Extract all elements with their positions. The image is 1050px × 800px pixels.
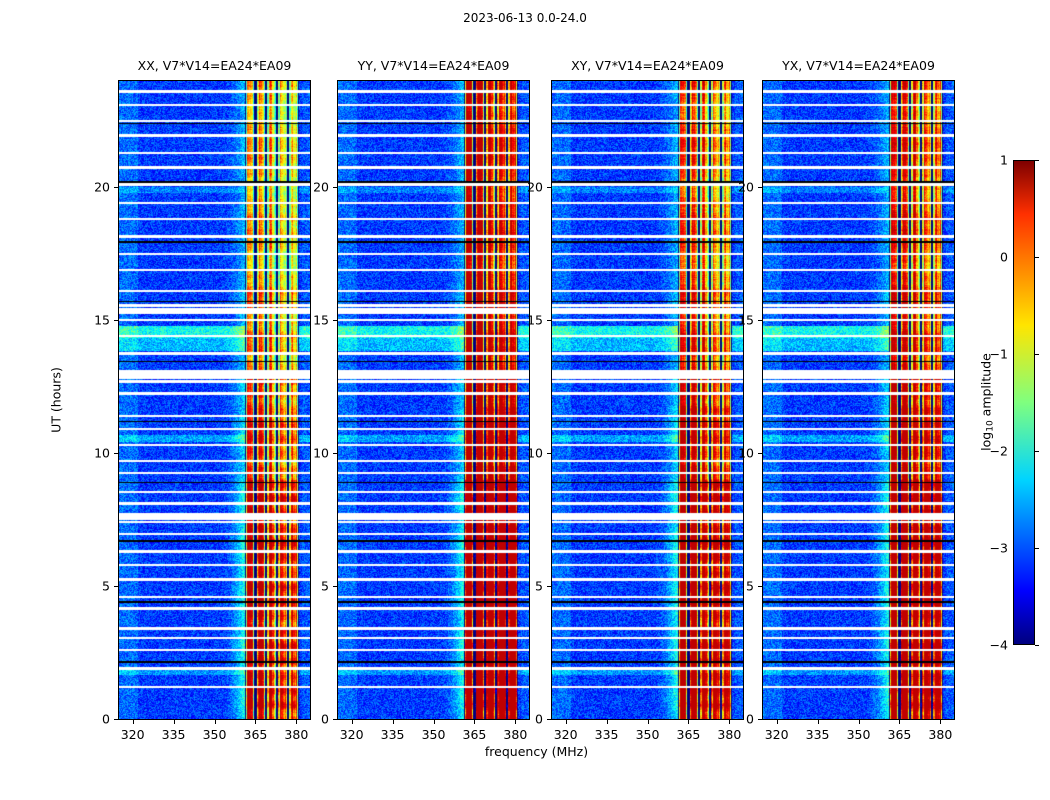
y-tick-mark (333, 187, 337, 188)
y-tick-label: 15 (724, 313, 754, 328)
colorbar-tick-label: 1 (984, 153, 1008, 168)
y-tick-mark (547, 719, 551, 720)
panel-title-yy: YY, V7*V14=EA24*EA09 (358, 58, 510, 73)
y-tick-label: 20 (299, 180, 329, 195)
x-tick-label: 365 (243, 727, 267, 742)
x-tick-label: 320 (554, 727, 578, 742)
panel-title-xy: XY, V7*V14=EA24*EA09 (571, 58, 724, 73)
y-axis-label: UT (hours) (49, 367, 64, 433)
x-tick-mark (434, 720, 435, 724)
x-tick-mark (215, 720, 216, 724)
y-tick-label: 10 (513, 446, 543, 461)
x-tick-label: 350 (847, 727, 871, 742)
x-tick-mark (648, 720, 649, 724)
x-tick-label: 335 (381, 727, 405, 742)
y-tick-mark (547, 187, 551, 188)
spectrum-panel-xx[interactable]: XX, V7*V14=EA24*EA09 (118, 80, 311, 720)
y-tick-mark (114, 187, 118, 188)
spectrum-panel-yx[interactable]: YX, V7*V14=EA24*EA09 (762, 80, 955, 720)
y-tick-mark (333, 586, 337, 587)
y-tick-label: 0 (299, 712, 329, 727)
waterfall-image-yy (338, 81, 529, 719)
y-tick-mark (333, 320, 337, 321)
x-tick-label: 335 (162, 727, 186, 742)
x-tick-label: 320 (765, 727, 789, 742)
y-tick-mark (547, 453, 551, 454)
x-tick-label: 380 (284, 727, 308, 742)
x-tick-label: 350 (422, 727, 446, 742)
colorbar-tick-mark (1035, 645, 1039, 646)
y-tick-label: 10 (724, 446, 754, 461)
x-tick-mark (899, 720, 900, 724)
colorbar-label-suffix: amplitude (979, 353, 994, 420)
x-tick-mark (255, 720, 256, 724)
x-tick-label: 335 (595, 727, 619, 742)
x-tick-label: 365 (462, 727, 486, 742)
figure-canvas: 2023-06-13 0.0-24.0 XX, V7*V14=EA24*EA09… (0, 0, 1050, 800)
y-tick-mark (114, 586, 118, 587)
x-tick-label: 320 (340, 727, 364, 742)
x-tick-mark (818, 720, 819, 724)
y-tick-mark (547, 320, 551, 321)
colorbar-label-prefix: log (979, 432, 994, 451)
x-tick-label: 380 (928, 727, 952, 742)
x-tick-mark (174, 720, 175, 724)
y-tick-mark (114, 453, 118, 454)
y-tick-label: 15 (80, 313, 110, 328)
x-tick-mark (352, 720, 353, 724)
x-tick-label: 365 (887, 727, 911, 742)
y-tick-mark (333, 719, 337, 720)
x-tick-mark (940, 720, 941, 724)
colorbar-label-subscript: 10 (986, 420, 996, 431)
colorbar-tick-mark (1035, 354, 1039, 355)
waterfall-image-xx (119, 81, 310, 719)
x-tick-label: 380 (717, 727, 741, 742)
y-tick-mark (758, 586, 762, 587)
x-axis-label: frequency (MHz) (118, 744, 955, 759)
x-tick-mark (566, 720, 567, 724)
y-tick-mark (758, 320, 762, 321)
y-tick-mark (758, 719, 762, 720)
colorbar-gradient (1013, 160, 1035, 645)
y-tick-label: 20 (724, 180, 754, 195)
colorbar[interactable] (1013, 160, 1035, 645)
y-tick-label: 0 (513, 712, 543, 727)
waterfall-image-yx (763, 81, 954, 719)
panel-plot-area-yx[interactable] (762, 80, 955, 720)
x-tick-label: 350 (636, 727, 660, 742)
y-tick-label: 15 (299, 313, 329, 328)
y-tick-mark (758, 453, 762, 454)
colorbar-tick-label: 0 (984, 250, 1008, 265)
x-tick-mark (474, 720, 475, 724)
spectrum-panel-xy[interactable]: XY, V7*V14=EA24*EA09 (551, 80, 744, 720)
y-tick-label: 20 (513, 180, 543, 195)
x-tick-label: 350 (203, 727, 227, 742)
figure-suptitle: 2023-06-13 0.0-24.0 (0, 11, 1050, 25)
x-tick-mark (607, 720, 608, 724)
y-tick-label: 0 (724, 712, 754, 727)
panel-plot-area-xy[interactable] (551, 80, 744, 720)
waterfall-image-xy (552, 81, 743, 719)
y-tick-label: 15 (513, 313, 543, 328)
y-tick-mark (333, 453, 337, 454)
x-tick-mark (393, 720, 394, 724)
colorbar-tick-mark (1035, 548, 1039, 549)
panel-plot-area-yy[interactable] (337, 80, 530, 720)
colorbar-tick-mark (1035, 160, 1039, 161)
y-tick-mark (114, 320, 118, 321)
colorbar-tick-label: −4 (984, 638, 1008, 653)
colorbar-label: log10 amplitude (979, 353, 994, 451)
panel-title-xx: XX, V7*V14=EA24*EA09 (138, 58, 292, 73)
colorbar-tick-mark (1035, 451, 1039, 452)
x-tick-mark (777, 720, 778, 724)
x-tick-label: 365 (676, 727, 700, 742)
x-tick-mark (296, 720, 297, 724)
y-tick-label: 5 (724, 579, 754, 594)
colorbar-tick-mark (1035, 257, 1039, 258)
x-tick-label: 320 (121, 727, 145, 742)
x-tick-label: 380 (503, 727, 527, 742)
panel-plot-area-xx[interactable] (118, 80, 311, 720)
x-tick-mark (688, 720, 689, 724)
colorbar-tick-label: −3 (984, 541, 1008, 556)
y-tick-mark (114, 719, 118, 720)
y-tick-label: 5 (80, 579, 110, 594)
y-tick-label: 0 (80, 712, 110, 727)
y-tick-label: 5 (513, 579, 543, 594)
y-tick-mark (547, 586, 551, 587)
y-tick-label: 10 (299, 446, 329, 461)
y-tick-label: 20 (80, 180, 110, 195)
x-tick-label: 335 (806, 727, 830, 742)
y-tick-mark (758, 187, 762, 188)
x-tick-mark (859, 720, 860, 724)
y-tick-label: 5 (299, 579, 329, 594)
panel-title-yx: YX, V7*V14=EA24*EA09 (782, 58, 935, 73)
y-tick-label: 10 (80, 446, 110, 461)
spectrum-panel-yy[interactable]: YY, V7*V14=EA24*EA09 (337, 80, 530, 720)
x-tick-mark (133, 720, 134, 724)
